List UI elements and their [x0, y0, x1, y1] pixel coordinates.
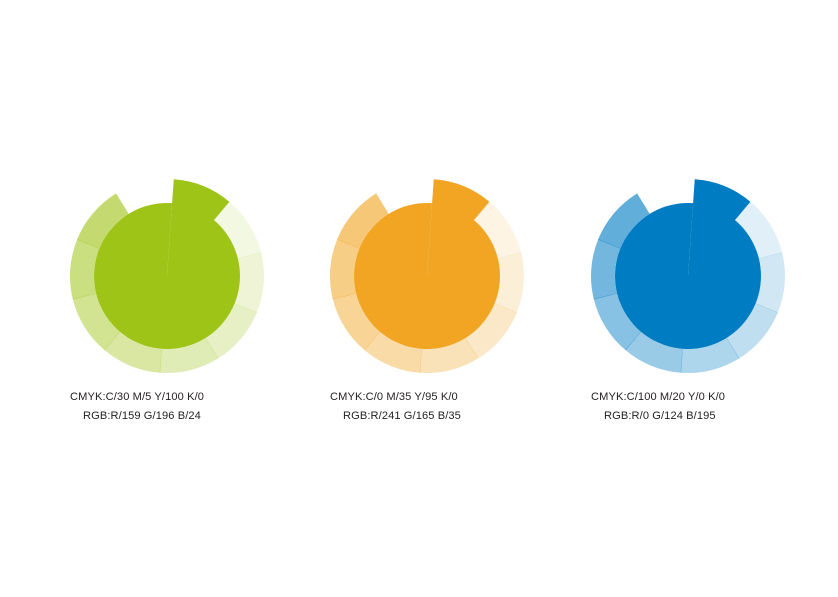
- green-donut-figure: [37, 0, 297, 400]
- orange-cmyk-label: CMYK:C/0 M/35 Y/95 K/0: [297, 388, 557, 407]
- green-swatch: CMYK:C/30 M/5 Y/100 K/0RGB:R/159 G/196 B…: [37, 0, 297, 597]
- orange-donut-figure: [297, 0, 557, 400]
- blue-ring-segments: [591, 179, 785, 373]
- blue-donut-figure: [558, 0, 818, 400]
- blue-core-disc: [615, 203, 761, 349]
- orange-color-values: CMYK:C/0 M/35 Y/95 K/0RGB:R/241 G/165 B/…: [297, 388, 557, 426]
- green-rgb-label: RGB:R/159 G/196 B/24: [37, 407, 297, 426]
- orange-core-disc: [354, 203, 500, 349]
- green-cmyk-label: CMYK:C/30 M/5 Y/100 K/0: [37, 388, 297, 407]
- green-ring-segments: [70, 179, 264, 373]
- orange-rgb-label: RGB:R/241 G/165 B/35: [297, 407, 557, 426]
- orange-swatch: CMYK:C/0 M/35 Y/95 K/0RGB:R/241 G/165 B/…: [297, 0, 557, 597]
- green-core-disc: [94, 203, 240, 349]
- orange-ring-segments: [330, 179, 524, 373]
- color-palette-board: CMYK:C/30 M/5 Y/100 K/0RGB:R/159 G/196 B…: [0, 0, 838, 597]
- blue-rgb-label: RGB:R/0 G/124 B/195: [558, 407, 818, 426]
- blue-cmyk-label: CMYK:C/100 M/20 Y/0 K/0: [558, 388, 818, 407]
- blue-color-values: CMYK:C/100 M/20 Y/0 K/0RGB:R/0 G/124 B/1…: [558, 388, 818, 426]
- green-color-values: CMYK:C/30 M/5 Y/100 K/0RGB:R/159 G/196 B…: [37, 388, 297, 426]
- blue-swatch: CMYK:C/100 M/20 Y/0 K/0RGB:R/0 G/124 B/1…: [558, 0, 818, 597]
